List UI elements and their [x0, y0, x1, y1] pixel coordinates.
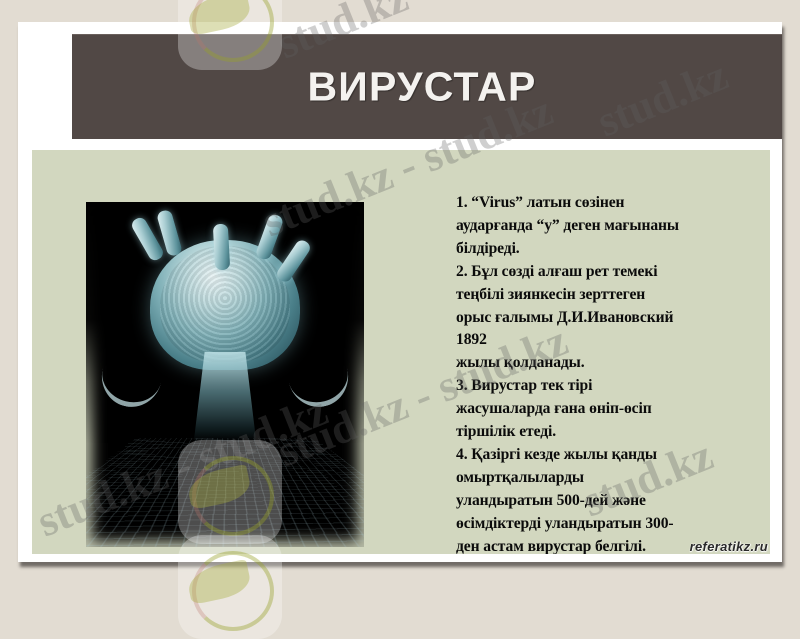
phage-leg-icon	[95, 338, 168, 414]
body-line: аударғанда “у” деген мағынаны	[456, 215, 764, 238]
body-line: 2. Бұл сөзді алғаш рет темекі	[456, 261, 764, 284]
body-line: орыс ғалымы Д.И.Ивановский	[456, 307, 764, 330]
referatikz-watermark-badge: referatikz.ru	[690, 539, 768, 554]
body-line: теңбілі зиянкесін зерттеген	[456, 284, 764, 307]
body-line: тіршілік етеді.	[456, 421, 764, 444]
logo-leaf-icon	[185, 559, 253, 605]
slide-frame: ВИРУСТАР 1. “Virus” латын сөзінен аударғ…	[18, 22, 782, 562]
logo-ring-icon	[192, 551, 274, 631]
body-line: уландыратын 500-дей және	[456, 490, 764, 513]
body-line: білдіреді.	[456, 238, 764, 261]
phage-spike-icon	[213, 224, 230, 271]
slide-body-text: 1. “Virus” латын сөзінен аударғанда “у” …	[456, 192, 764, 554]
body-line: жылы қолданады.	[456, 352, 764, 375]
body-line: өсімдіктерді уландыратын 300-	[456, 513, 764, 536]
phage-leg-icon	[281, 338, 354, 414]
body-line: жасушаларда ғана өніп-өсіп	[456, 398, 764, 421]
phage-spike-icon	[255, 213, 285, 261]
slide-title: ВИРУСТАР	[72, 64, 782, 111]
body-line: 1. “Virus” латын сөзінен	[456, 192, 764, 215]
virus-grid-floor	[86, 438, 364, 547]
body-line: 3. Вирустар тек тірі	[456, 375, 764, 398]
body-line: 1892	[456, 329, 764, 352]
body-line: 4. Қазіргі кезде жылы қанды	[456, 444, 764, 467]
body-line: омыртқалыларды	[456, 467, 764, 490]
virus-image	[86, 202, 364, 547]
slide-title-bar: ВИРУСТАР	[72, 34, 782, 139]
slide-content-panel: 1. “Virus” латын сөзінен аударғанда “у” …	[32, 150, 770, 554]
